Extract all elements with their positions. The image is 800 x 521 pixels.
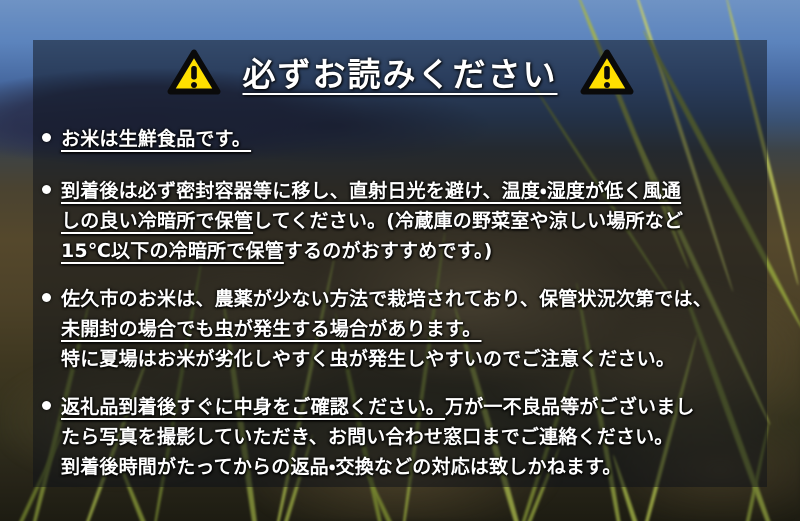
warning-triangle-icon [580, 48, 634, 96]
notice-content: 必ずお読みください お米は生鮮食品です。到着後は必ず密封容器等に移し、直射日光を… [0, 0, 800, 521]
notice-line: しの良い冷暗所で保管してください。(冷蔵庫の野菜室や涼しい場所など [61, 206, 764, 236]
notice-list: お米は生鮮食品です。到着後は必ず密封容器等に移し、直射日光を避け、温度・湿度が低… [40, 124, 764, 496]
bullet-marker-icon [42, 293, 51, 302]
title-row: 必ずお読みください [0, 48, 800, 96]
notice-line: 未開封の場合でも虫が発生する場合があります。 [61, 314, 764, 344]
bullet-marker-icon [42, 401, 51, 410]
notice-line-plain-part: してください。(冷蔵庫の野菜室や涼しい場所など [253, 210, 683, 232]
bullet-marker-icon [42, 133, 51, 142]
notice-line: たら写真を撮影していただき、お問い合わせ窓口までご連絡ください。 [61, 422, 764, 452]
notice-line-plain-part: 万が一不良品等がございまし [445, 396, 695, 418]
notice-line: 佐久市のお米は、農薬が少ない方法で栽培されており、保管状況次第では、 [61, 284, 764, 314]
notice-line: 15℃以下の冷暗所で保管するのがおすすめです。) [61, 236, 764, 266]
notice-item: 返礼品到着後すぐに中身をご確認ください。万が一不良品等がございましたら写真を撮影… [40, 392, 764, 482]
warning-triangle-icon [167, 48, 221, 96]
notice-line: 特に夏場はお米が劣化しやすく虫が発生しやすいのでご注意ください。 [61, 344, 764, 374]
notice-item-lines: 到着後は必ず密封容器等に移し、直射日光を避け、温度・湿度が低く風通しの良い冷暗所… [40, 176, 764, 266]
notice-line: 到着後時間がたってからの返品・交換などの対応は致しかねます。 [61, 452, 764, 482]
notice-line-underlined-part: 15℃以下の冷暗所で保管 [61, 240, 284, 262]
notice-item-lines: 佐久市のお米は、農薬が少ない方法で栽培されており、保管状況次第では、未開封の場合… [40, 284, 764, 374]
page-title: 必ずお読みください [243, 48, 558, 96]
notice-item-lines: 返礼品到着後すぐに中身をご確認ください。万が一不良品等がございましたら写真を撮影… [40, 392, 764, 482]
notice-line-underlined-part: しの良い冷暗所で保管 [61, 210, 253, 232]
notice-line-plain-part: するのがおすすめです。) [284, 240, 493, 262]
notice-item: 到着後は必ず密封容器等に移し、直射日光を避け、温度・湿度が低く風通しの良い冷暗所… [40, 176, 764, 266]
notice-line-underlined-part: 返礼品到着後すぐに中身をご確認ください。 [61, 396, 445, 418]
notice-banner: 必ずお読みください お米は生鮮食品です。到着後は必ず密封容器等に移し、直射日光を… [0, 0, 800, 521]
notice-line: 到着後は必ず密封容器等に移し、直射日光を避け、温度・湿度が低く風通 [61, 176, 764, 206]
notice-item-lines: お米は生鮮食品です。 [40, 124, 764, 154]
notice-line: 返礼品到着後すぐに中身をご確認ください。万が一不良品等がございまし [61, 392, 764, 422]
notice-item: お米は生鮮食品です。 [40, 124, 764, 154]
notice-item: 佐久市のお米は、農薬が少ない方法で栽培されており、保管状況次第では、未開封の場合… [40, 284, 764, 374]
notice-line: お米は生鮮食品です。 [61, 124, 764, 154]
bullet-marker-icon [42, 185, 51, 194]
